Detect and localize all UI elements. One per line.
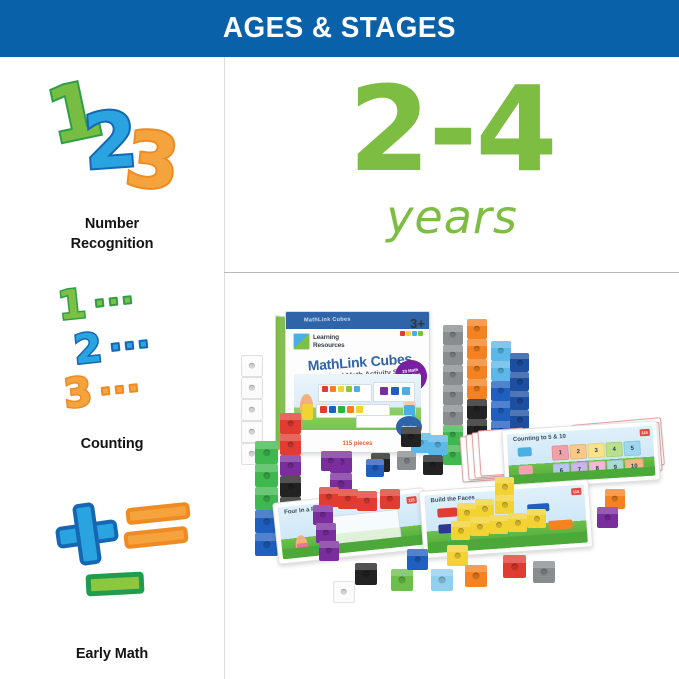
cube xyxy=(241,399,263,421)
number-tile: 4 xyxy=(605,441,623,457)
number-tile: 3 xyxy=(587,443,605,459)
box-art-child-1-shirt xyxy=(302,404,313,420)
box-art-cube xyxy=(338,386,344,392)
box-art-cube xyxy=(322,386,328,392)
counting-dot xyxy=(100,386,110,396)
loose-cube xyxy=(597,507,618,528)
ages-badge-label: AGES xyxy=(397,323,410,328)
cube xyxy=(280,455,301,476)
product-box-top-band: MathLink Cubes AGES3+ xyxy=(286,312,429,329)
brand-name: Learning Resources xyxy=(313,334,344,349)
train-car-icon xyxy=(517,447,532,457)
cube xyxy=(491,341,511,361)
number-tile: 5 xyxy=(623,440,641,456)
age-range-value: 2-4 xyxy=(225,70,679,188)
loose-cube xyxy=(333,581,355,603)
plus-icon xyxy=(52,499,122,569)
counting-row-3: 3 xyxy=(62,367,140,414)
loose-cube xyxy=(605,489,625,509)
activity-card-badge: 115 xyxy=(406,496,417,504)
box-art-cube xyxy=(354,386,360,392)
loose-cube xyxy=(465,565,487,587)
cube xyxy=(510,391,529,410)
ages-block xyxy=(418,331,423,336)
face-pattern-red xyxy=(437,507,458,517)
box-art-cube xyxy=(346,386,352,392)
cube xyxy=(443,405,463,425)
card-cube xyxy=(380,489,400,509)
cube xyxy=(241,421,263,443)
equals-icon-top-bar xyxy=(125,502,190,526)
counting-dot xyxy=(122,295,132,305)
learning-resources-logo: Learning Resources xyxy=(293,333,344,350)
numbers-123-icon: 1 2 3 xyxy=(0,65,224,215)
feature-early-math: Early Math xyxy=(0,485,224,665)
loose-cube xyxy=(407,549,428,570)
loose-cube xyxy=(321,451,341,471)
loose-cube xyxy=(533,561,555,583)
ages-badge: AGES3+ xyxy=(397,314,425,336)
math-symbols-icon xyxy=(0,485,224,645)
counting-dot xyxy=(108,296,118,306)
cube xyxy=(443,365,463,385)
counting-number: 3 xyxy=(62,372,94,415)
feature-caption-line-1: Counting xyxy=(0,435,224,455)
cube xyxy=(510,353,529,372)
card-cube xyxy=(489,515,508,534)
loose-cube xyxy=(503,555,526,578)
cube xyxy=(467,399,487,419)
number-tile: 1 xyxy=(551,445,569,461)
counting-dot xyxy=(114,384,124,394)
box-art-cube xyxy=(330,386,336,392)
box-art-cube xyxy=(402,387,410,395)
feature-column: 1 2 3 Number Recognition 1 2 xyxy=(0,57,224,679)
feature-caption-line-1: Early Math xyxy=(0,645,224,665)
product-box-spine-text: MathLink Cubes xyxy=(304,317,351,324)
cube xyxy=(255,533,278,556)
logo-cube-icon xyxy=(293,333,310,350)
box-art-cube xyxy=(338,406,345,413)
age-range-unit: years xyxy=(225,190,679,244)
face-pattern-orange xyxy=(548,519,573,530)
loose-cube xyxy=(355,563,377,585)
cube xyxy=(241,377,263,399)
loose-cube xyxy=(423,455,443,475)
ages-badge-blocks xyxy=(397,331,425,336)
card-cube xyxy=(313,505,333,525)
box-art-cube xyxy=(380,387,388,395)
activity-card-title: Counting to 5 & 10 xyxy=(513,434,566,443)
brand-line-1: Learning xyxy=(313,334,339,341)
product-photo-panel: MathLink Cubes AGES3+ xyxy=(225,273,679,679)
loose-cube xyxy=(431,569,453,591)
counting-dots-icon: 1 2 3 xyxy=(0,275,224,435)
card-cube xyxy=(451,521,470,540)
card-cube xyxy=(319,541,339,561)
counting-row-2: 2 xyxy=(72,323,150,370)
cube xyxy=(467,379,487,399)
counting-dot xyxy=(94,298,104,308)
cube xyxy=(491,381,511,401)
box-art-cube xyxy=(347,406,354,413)
cube xyxy=(491,401,511,421)
loose-cube xyxy=(401,427,421,447)
loose-cube xyxy=(447,545,468,566)
brand-line-2: Resources xyxy=(313,342,344,349)
card-cube xyxy=(316,523,336,543)
number-tile: 2 xyxy=(569,444,587,460)
box-art-cube xyxy=(391,387,399,395)
cube xyxy=(467,359,487,379)
cube xyxy=(510,372,529,391)
cube-tower-orange xyxy=(467,319,487,439)
feature-caption-line-1: Number xyxy=(0,215,224,235)
counting-dot xyxy=(110,342,120,352)
ages-block xyxy=(412,331,417,336)
card-cube xyxy=(508,513,527,532)
loose-cube xyxy=(391,569,413,591)
ages-block xyxy=(400,331,405,336)
box-art-cube xyxy=(356,406,363,413)
counting-dot xyxy=(124,340,134,350)
cube xyxy=(255,464,278,487)
cube xyxy=(467,339,487,359)
ages-and-stages-infographic: AGES & STAGES 1 2 3 Number Recognition 1 xyxy=(0,0,679,679)
activity-card-stack: Counting to 5 & 10 115 1 2 3 4 5 6 7 8 9… xyxy=(461,425,661,487)
cube xyxy=(443,325,463,345)
feature-caption: Number Recognition xyxy=(0,215,224,254)
card-cube xyxy=(319,487,339,507)
minus-icon xyxy=(85,571,144,596)
cube xyxy=(280,413,301,434)
activity-card-inner: Counting to 5 & 10 115 1 2 3 4 5 6 7 8 9… xyxy=(507,426,656,485)
loose-cube xyxy=(397,451,416,470)
header-banner: AGES & STAGES xyxy=(0,0,679,57)
equals-icon-bottom-bar xyxy=(123,526,188,550)
card-cube xyxy=(527,509,546,528)
page-title: AGES & STAGES xyxy=(223,12,456,45)
loose-cube xyxy=(366,459,384,477)
card-cube xyxy=(338,489,358,509)
digit-three-glyph: 3 xyxy=(122,120,183,201)
feature-caption-line-2: Recognition xyxy=(0,235,224,255)
cube xyxy=(491,361,511,381)
card-cube xyxy=(357,491,377,511)
cube-tower-green xyxy=(255,441,278,556)
cube xyxy=(467,319,487,339)
counting-dot xyxy=(128,383,138,393)
counting-number: 2 xyxy=(72,328,104,371)
counting-dot xyxy=(138,339,148,349)
counting-row-1: 1 xyxy=(56,279,134,326)
feature-caption: Early Math xyxy=(0,645,224,665)
card-cube xyxy=(470,517,489,536)
ages-block xyxy=(406,331,411,336)
product-photo: MathLink Cubes AGES3+ xyxy=(225,273,679,679)
card-cube xyxy=(495,477,514,496)
box-art-cube xyxy=(320,406,327,413)
feature-caption: Counting xyxy=(0,435,224,455)
plus-vertical-bar xyxy=(72,502,102,566)
card-cube xyxy=(495,495,514,514)
feature-number-recognition: 1 2 3 Number Recognition xyxy=(0,65,224,254)
cube xyxy=(280,434,301,455)
cube xyxy=(255,441,278,464)
cube xyxy=(241,355,263,377)
loose-cube xyxy=(428,435,448,455)
age-range-panel: 2-4 years xyxy=(225,58,679,272)
cube xyxy=(443,345,463,365)
counting-number: 1 xyxy=(56,284,88,327)
cube-tower-navy xyxy=(510,353,529,429)
box-art-cube xyxy=(329,406,336,413)
cube xyxy=(443,385,463,405)
ages-badge-value: 3+ xyxy=(410,317,425,330)
feature-counting: 1 2 3 Counting xyxy=(0,275,224,455)
activity-card-badge: 115 xyxy=(639,429,650,437)
activity-card-badge: 115 xyxy=(571,488,582,496)
cube xyxy=(280,476,301,497)
